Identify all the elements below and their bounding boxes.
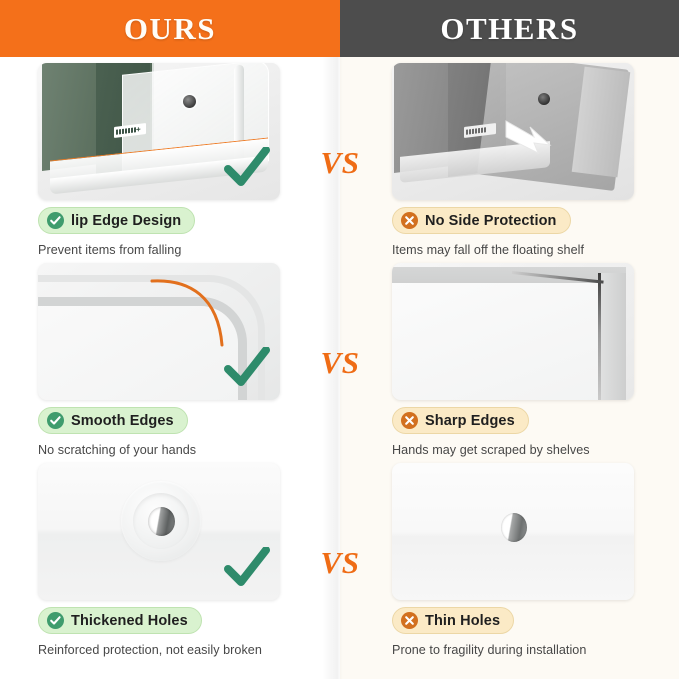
ours-label-group-2: Smooth Edges No scratching of your hands [38, 407, 196, 457]
others-feature-pill-2: Sharp Edges [392, 407, 529, 434]
others-feature-title-2: Sharp Edges [425, 413, 515, 429]
ours-label-group-3: Thickened Holes Reinforced protection, n… [38, 607, 262, 657]
check-icon [47, 212, 64, 229]
vs-separator-2: VS [311, 345, 369, 381]
ours-feature-pill-1: lip Edge Design [38, 207, 195, 234]
ours-header-label: OURS [124, 13, 216, 44]
others-cell-3: Thin Holes Prone to fragility during ins… [340, 457, 679, 657]
others-label-group-1: No Side Protection Items may fall off th… [392, 207, 584, 257]
others-header-label: OTHERS [440, 13, 578, 44]
cross-icon [401, 612, 418, 629]
comparison-infographic: OURS OTHERS + [0, 0, 679, 679]
ours-feature-caption-2: No scratching of your hands [38, 443, 196, 457]
check-icon [47, 612, 64, 629]
ours-feature-title-2: Smooth Edges [71, 413, 174, 429]
ours-feature-title-3: Thickened Holes [71, 613, 188, 629]
ours-photo-lip-edge: + [38, 63, 280, 200]
ours-cell-2: Smooth Edges No scratching of your hands [0, 257, 340, 457]
vs-separator-3: VS [311, 545, 369, 581]
check-icon [47, 412, 64, 429]
ours-label-group-1: lip Edge Design Prevent items from falli… [38, 207, 195, 257]
ours-feature-caption-1: Prevent items from falling [38, 243, 195, 257]
others-photo-no-side-protection [392, 63, 634, 200]
ours-photo-smooth-edges [38, 263, 280, 400]
side-face [600, 273, 626, 400]
mounting-hole [501, 513, 527, 542]
check-mark-icon [224, 547, 270, 594]
screw-icon [183, 95, 196, 108]
ours-feature-pill-3: Thickened Holes [38, 607, 202, 634]
mounting-hole [148, 507, 175, 536]
sharp-vertical-edge [598, 273, 601, 400]
ours-cell-3: Thickened Holes Reinforced protection, n… [0, 457, 340, 657]
falling-arrow-icon [504, 115, 560, 164]
cross-icon [401, 412, 418, 429]
others-cell-1: No Side Protection Items may fall off th… [340, 57, 679, 257]
ours-photo-thickened-holes [38, 463, 280, 600]
others-label-group-3: Thin Holes Prone to fragility during ins… [392, 607, 586, 657]
others-feature-title-1: No Side Protection [425, 213, 557, 229]
others-label-group-2: Sharp Edges Hands may get scraped by she… [392, 407, 590, 457]
cross-icon [401, 212, 418, 229]
others-feature-pill-3: Thin Holes [392, 607, 514, 634]
check-mark-icon [224, 347, 270, 394]
header-bar: OURS OTHERS [0, 0, 679, 57]
others-feature-title-3: Thin Holes [425, 613, 500, 629]
front-face [392, 283, 600, 400]
others-feature-pill-1: No Side Protection [392, 207, 571, 234]
check-mark-icon [224, 147, 270, 194]
others-photo-thin-holes [392, 463, 634, 600]
others-feature-caption-2: Hands may get scraped by shelves [392, 443, 590, 457]
others-cell-2: Sharp Edges Hands may get scraped by she… [340, 257, 679, 457]
ours-feature-pill-2: Smooth Edges [38, 407, 188, 434]
comparison-row-2: Smooth Edges No scratching of your hands [0, 257, 679, 457]
vs-separator-1: VS [311, 145, 369, 181]
others-feature-caption-3: Prone to fragility during installation [392, 643, 586, 657]
others-feature-caption-1: Items may fall off the floating shelf [392, 243, 584, 257]
screw-icon [538, 93, 550, 105]
others-photo-sharp-edges [392, 263, 634, 400]
ours-feature-caption-3: Reinforced protection, not easily broken [38, 643, 262, 657]
others-header: OTHERS [340, 0, 679, 57]
ours-feature-title-1: lip Edge Design [71, 213, 181, 229]
ours-cell-1: + lip Edge Design Prevent items from fal… [0, 57, 340, 257]
comparison-row-1: + lip Edge Design Prevent items from fal… [0, 57, 679, 257]
ours-header: OURS [0, 0, 340, 57]
comparison-row-3: Thickened Holes Reinforced protection, n… [0, 457, 679, 657]
